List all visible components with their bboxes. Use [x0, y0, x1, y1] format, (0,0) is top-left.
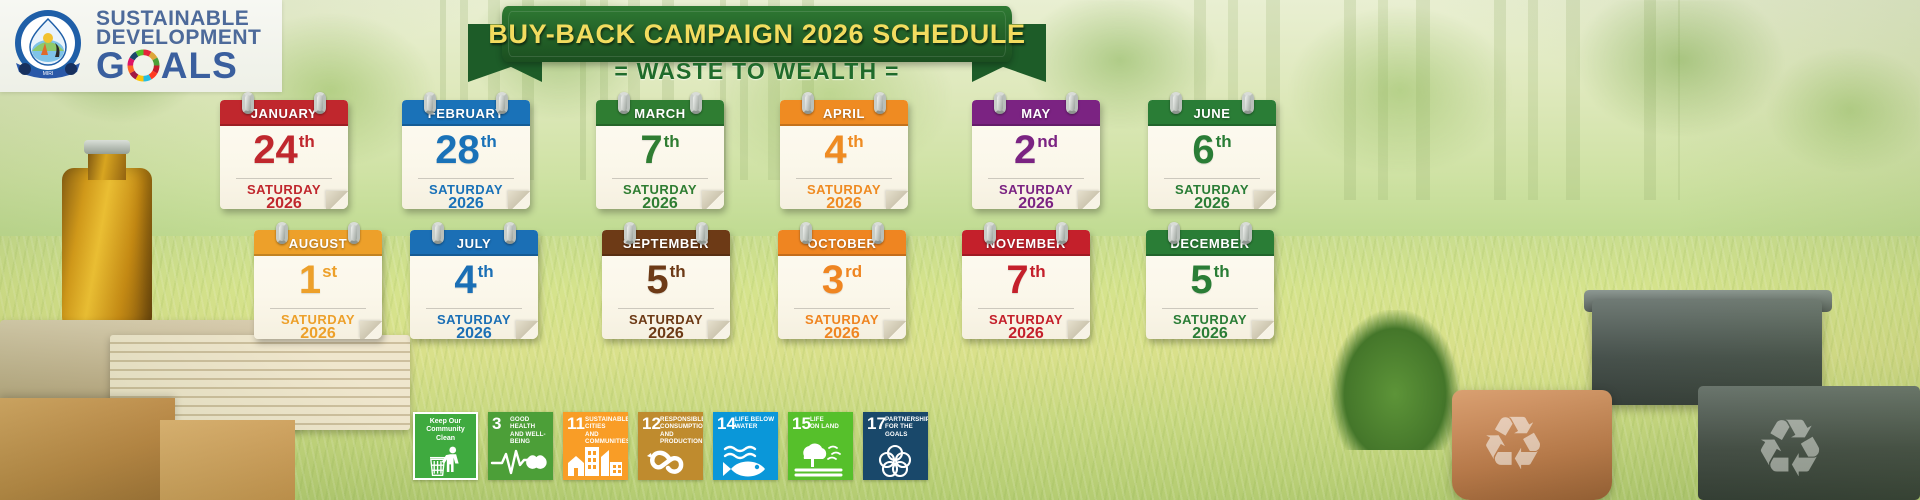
calendar-month-header: JANUARY: [220, 100, 348, 126]
badge-sdg-14: 14 LIFE BELOWWATER: [713, 412, 778, 480]
calendar-ring-right: [690, 92, 702, 114]
calendar-month-label: APRIL: [823, 106, 865, 121]
calendar-day-suffix: nd: [1037, 133, 1058, 150]
calendar-year-label: 2026: [972, 195, 1100, 209]
calendar-date: 1st: [254, 260, 382, 306]
calendar-day-number: 4: [824, 130, 846, 170]
calendar-card-body: FEBRUARY28thSATURDAY2026: [402, 100, 530, 209]
calendar-card-body: AUGUST1stSATURDAY2026: [254, 230, 382, 339]
calendar-divider: [418, 178, 514, 179]
calendar-day-suffix: th: [299, 133, 315, 150]
calendar-divider: [612, 178, 708, 179]
calendar-date: 6th: [1148, 130, 1276, 176]
calendar-month-header: NOVEMBER: [962, 230, 1090, 256]
calendar-card-august[interactable]: AUGUST1stSATURDAY2026: [254, 222, 382, 339]
calendar-divider: [618, 308, 714, 309]
calendar-year-label: 2026: [254, 325, 382, 339]
calendar-ring-right: [874, 92, 886, 114]
badge-label-keep-clean: Keep OurCommunityClean: [426, 418, 465, 443]
calendar-month-header: FEBRUARY: [402, 100, 530, 126]
calendar-card-body: DECEMBER5thSATURDAY2026: [1146, 230, 1274, 339]
calendar-year-label: 2026: [602, 325, 730, 339]
calendar-ring-left: [242, 92, 254, 114]
calendar-ring-left: [624, 222, 636, 244]
calendar-month-header: APRIL: [780, 100, 908, 126]
badge-sdg-17: 17 PARTNERSHIPSFOR THE GOALS: [863, 412, 928, 480]
calendar-month-label: NOVEMBER: [986, 236, 1066, 251]
sdg-colour-wheel-icon: [127, 49, 160, 82]
city-icon: [563, 441, 628, 477]
calendar-ring-right: [1066, 92, 1078, 114]
calendar-year-label: 2026: [778, 325, 906, 339]
svg-text:MIRI: MIRI: [43, 71, 54, 77]
calendar-day-number: 5: [1190, 260, 1212, 300]
calendar-ring-left: [424, 92, 436, 114]
calendar-card-body: JUNE6thSATURDAY2026: [1148, 100, 1276, 209]
calendar-month-label: MAY: [1021, 106, 1051, 121]
calendar-date: 5th: [602, 260, 730, 306]
litter-bin-icon: [427, 445, 465, 477]
calendar-date: 7th: [596, 130, 724, 176]
banner-subtitle: = WASTE TO WEALTH =: [474, 58, 1040, 85]
calendar-month-label: JULY: [457, 236, 491, 251]
calendar-ring-left: [276, 222, 288, 244]
calendar-card-body: NOVEMBER7thSATURDAY2026: [962, 230, 1090, 339]
calendar-card-april[interactable]: APRIL4thSATURDAY2026: [780, 92, 908, 209]
calendar-year-label: 2026: [596, 195, 724, 209]
calendar-ring-left: [1170, 92, 1182, 114]
calendar-ring-right: [348, 222, 360, 244]
calendar-month-header: SEPTEMBER: [602, 230, 730, 256]
calendar-divider: [270, 308, 366, 309]
sdg-goals-row: G: [96, 48, 261, 83]
calendar-divider: [978, 308, 1074, 309]
calendar-ring-left: [432, 222, 444, 244]
calendar-month-label: JUNE: [1193, 106, 1230, 121]
calendar-divider: [794, 308, 890, 309]
calendar-day-suffix: th: [1216, 133, 1232, 150]
badge-number-12: 12: [642, 415, 661, 432]
sdg-goals-post: ALS: [161, 48, 238, 83]
calendar-divider: [1164, 178, 1260, 179]
calendar-year-label: 2026: [402, 195, 530, 209]
calendar-day-suffix: th: [478, 263, 494, 280]
badge-keep-our-community-clean: Keep OurCommunityClean: [413, 412, 478, 480]
calendar-card-body: APRIL4thSATURDAY2026: [780, 100, 908, 209]
calendar-date: 4th: [780, 130, 908, 176]
calendar-day-number: 5: [646, 260, 668, 300]
calendar-month-label: JANUARY: [251, 106, 318, 121]
calendar-year-label: 2026: [1148, 195, 1276, 209]
calendar-date: 4th: [410, 260, 538, 306]
calendar-ring-right: [872, 222, 884, 244]
badge-number-11: 11: [567, 415, 585, 432]
campaign-banner: BUY-BACK CAMPAIGN 2026 SCHEDULE: [474, 6, 1040, 64]
calendar-divider: [1162, 308, 1258, 309]
calendar-card-july[interactable]: JULY4thSATURDAY2026: [410, 222, 538, 339]
calendar-year-label: 2026: [410, 325, 538, 339]
fish-icon: [713, 441, 778, 477]
calendar-day-number: 3: [822, 260, 844, 300]
calendar-ring-left: [984, 222, 996, 244]
badge-sdg-15: 15 LIFEON LAND: [788, 412, 853, 480]
badge-label-15: LIFEON LAND: [810, 416, 850, 431]
calendar-date: 24th: [220, 130, 348, 176]
calendar-ring-left: [994, 92, 1006, 114]
calendar-year-label: 2026: [962, 325, 1090, 339]
calendar-ring-right: [504, 222, 516, 244]
calendar-day-suffix: th: [670, 263, 686, 280]
calendar-card-november[interactable]: NOVEMBER7thSATURDAY2026: [962, 222, 1090, 339]
calendar-card-december[interactable]: DECEMBER5thSATURDAY2026: [1146, 222, 1274, 339]
majlis-bandaraya-miri-crest-icon: MIRI: [8, 5, 88, 87]
calendar-ring-left: [618, 92, 630, 114]
banner-title: BUY-BACK CAMPAIGN 2026 SCHEDULE: [488, 19, 1025, 50]
calendar-day-number: 24: [253, 130, 298, 170]
badge-number-15: 15: [792, 415, 811, 432]
calendar-divider: [236, 178, 332, 179]
badge-sdg-3: 3 GOOD HEALTHAND WELL-BEING: [488, 412, 553, 480]
calendar-day-number: 7: [640, 130, 662, 170]
calendar-card-body: OCTOBER3rdSATURDAY2026: [778, 230, 906, 339]
calendar-ring-left: [802, 92, 814, 114]
calendar-month-header: MARCH: [596, 100, 724, 126]
calendar-year-label: 2026: [780, 195, 908, 209]
calendar-ring-right: [314, 92, 326, 114]
calendar-ring-left: [1168, 222, 1180, 244]
calendar-date: 3rd: [778, 260, 906, 306]
calendar-date: 5th: [1146, 260, 1274, 306]
calendar-month-label: DECEMBER: [1170, 236, 1249, 251]
calendar-day-number: 28: [435, 130, 480, 170]
calendar-day-suffix: th: [1214, 263, 1230, 280]
calendar-card-body: MAY2ndSATURDAY2026: [972, 100, 1100, 209]
calendar-card-march[interactable]: MARCH7thSATURDAY2026: [596, 92, 724, 209]
calendar-month-header: DECEMBER: [1146, 230, 1274, 256]
calendar-day-number: 1: [299, 260, 321, 300]
calendar-month-header: AUGUST: [254, 230, 382, 256]
badge-number-14: 14: [717, 415, 736, 432]
calendar-divider: [426, 308, 522, 309]
calendar-month-label: AUGUST: [289, 236, 348, 251]
calendar-month-header: MAY: [972, 100, 1100, 126]
rings-icon: [863, 441, 928, 477]
calendar-day-suffix: th: [848, 133, 864, 150]
banner-ribbon-body: BUY-BACK CAMPAIGN 2026 SCHEDULE: [502, 6, 1012, 62]
calendar-card-body: MARCH7thSATURDAY2026: [596, 100, 724, 209]
badge-label-17: PARTNERSHIPSFOR THE GOALS: [885, 416, 925, 438]
sdg-goals-pre: G: [96, 48, 126, 83]
calendar-day-suffix: th: [481, 133, 497, 150]
heartbeat-icon: [488, 441, 553, 477]
badge-sdg-12: 12 RESPONSIBLECONSUMPTIONAND PRODUCTION: [638, 412, 703, 480]
sdg-badge-row: Keep OurCommunityClean 3 GOOD HEALTHAND …: [413, 412, 928, 480]
calendar-ring-right: [696, 222, 708, 244]
calendar-divider: [796, 178, 892, 179]
calendar-month-header: JUNE: [1148, 100, 1276, 126]
calendar-day-number: 2: [1014, 130, 1036, 170]
calendar-card-june[interactable]: JUNE6thSATURDAY2026: [1148, 92, 1276, 209]
calendar-month-label: OCTOBER: [808, 236, 877, 251]
calendar-month-label: FEBRUARY: [428, 106, 505, 121]
calendar-card-may[interactable]: MAY2ndSATURDAY2026: [972, 92, 1100, 209]
calendar-card-september[interactable]: SEPTEMBER5thSATURDAY2026: [602, 222, 730, 339]
badge-number-17: 17: [867, 415, 886, 432]
calendar-ring-left: [800, 222, 812, 244]
calendar-card-body: SEPTEMBER5thSATURDAY2026: [602, 230, 730, 339]
calendar-year-label: 2026: [220, 195, 348, 209]
calendar-ring-right: [496, 92, 508, 114]
calendar-date: 28th: [402, 130, 530, 176]
organisation-logo-panel: MIRI SUSTAINABLE DEVELOPMENT G: [0, 0, 282, 92]
calendar-day-number: 6: [1192, 130, 1214, 170]
calendar-card-body: JULY4thSATURDAY2026: [410, 230, 538, 339]
calendar-day-suffix: st: [322, 263, 337, 280]
calendar-day-number: 4: [454, 260, 476, 300]
calendar-day-suffix: th: [664, 133, 680, 150]
calendar-date: 7th: [962, 260, 1090, 306]
calendar-card-body: JANUARY24thSATURDAY2026: [220, 100, 348, 209]
calendar-ring-right: [1242, 92, 1254, 114]
calendar-year-label: 2026: [1146, 325, 1274, 339]
infinity-icon: [638, 441, 703, 477]
calendar-day-suffix: rd: [845, 263, 862, 280]
calendar-date: 2nd: [972, 130, 1100, 176]
badge-sdg-11: 11 SUSTAINABLE CITIESAND COMMUNITIES: [563, 412, 628, 480]
badge-label-14: LIFE BELOWWATER: [735, 416, 775, 431]
calendar-card-october[interactable]: OCTOBER3rdSATURDAY2026: [778, 222, 906, 339]
calendar-month-header: OCTOBER: [778, 230, 906, 256]
sdg-wordmark: SUSTAINABLE DEVELOPMENT G: [96, 9, 261, 84]
calendar-card-january[interactable]: JANUARY24thSATURDAY2026: [220, 92, 348, 209]
calendar-divider: [988, 178, 1084, 179]
calendar-day-suffix: th: [1030, 263, 1046, 280]
calendar-month-label: MARCH: [634, 106, 685, 121]
calendar-day-number: 7: [1006, 260, 1028, 300]
tree-icon: [788, 441, 853, 477]
calendar-ring-right: [1240, 222, 1252, 244]
calendar-month-header: JULY: [410, 230, 538, 256]
calendar-card-february[interactable]: FEBRUARY28thSATURDAY2026: [402, 92, 530, 209]
calendar-ring-right: [1056, 222, 1068, 244]
badge-number-3: 3: [492, 415, 501, 432]
